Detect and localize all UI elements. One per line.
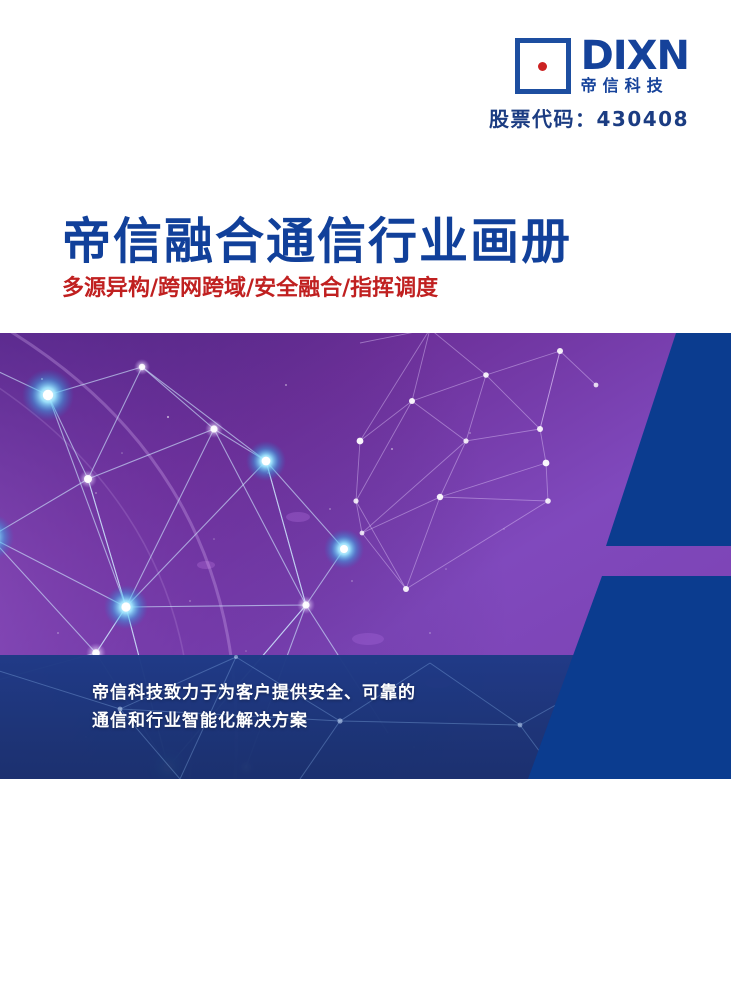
logo-wordmark: DIXN 帝信科技 <box>581 38 689 94</box>
logo-latin-text: DIXN <box>581 38 689 75</box>
logo-chinese-text: 帝信科技 <box>581 78 689 94</box>
page-subtitle: 多源异构/跨网跨域/安全融合/指挥调度 <box>62 277 682 301</box>
page-title: 帝信融合通信行业画册 <box>62 216 682 267</box>
tagline-line-1: 帝信科技致力于为客户提供安全、可靠的 <box>92 680 492 708</box>
tagline-line-2: 通信和行业智能化解决方案 <box>92 708 492 736</box>
square-dot-logo-icon <box>515 38 571 94</box>
brochure-cover-page: DIXN 帝信科技 股票代码：430408 帝信融合通信行业画册 多源异构/跨网… <box>0 0 731 999</box>
title-block: 帝信融合通信行业画册 多源异构/跨网跨域/安全融合/指挥调度 <box>62 216 682 302</box>
logo-row: DIXN 帝信科技 <box>459 38 689 94</box>
brand-logo-block: DIXN 帝信科技 股票代码：430408 <box>459 38 689 132</box>
hero-tagline: 帝信科技致力于为客户提供安全、可靠的 通信和行业智能化解决方案 <box>92 680 492 735</box>
red-dot-icon <box>538 62 547 71</box>
stock-code-label: 股票代码：430408 <box>459 103 689 132</box>
